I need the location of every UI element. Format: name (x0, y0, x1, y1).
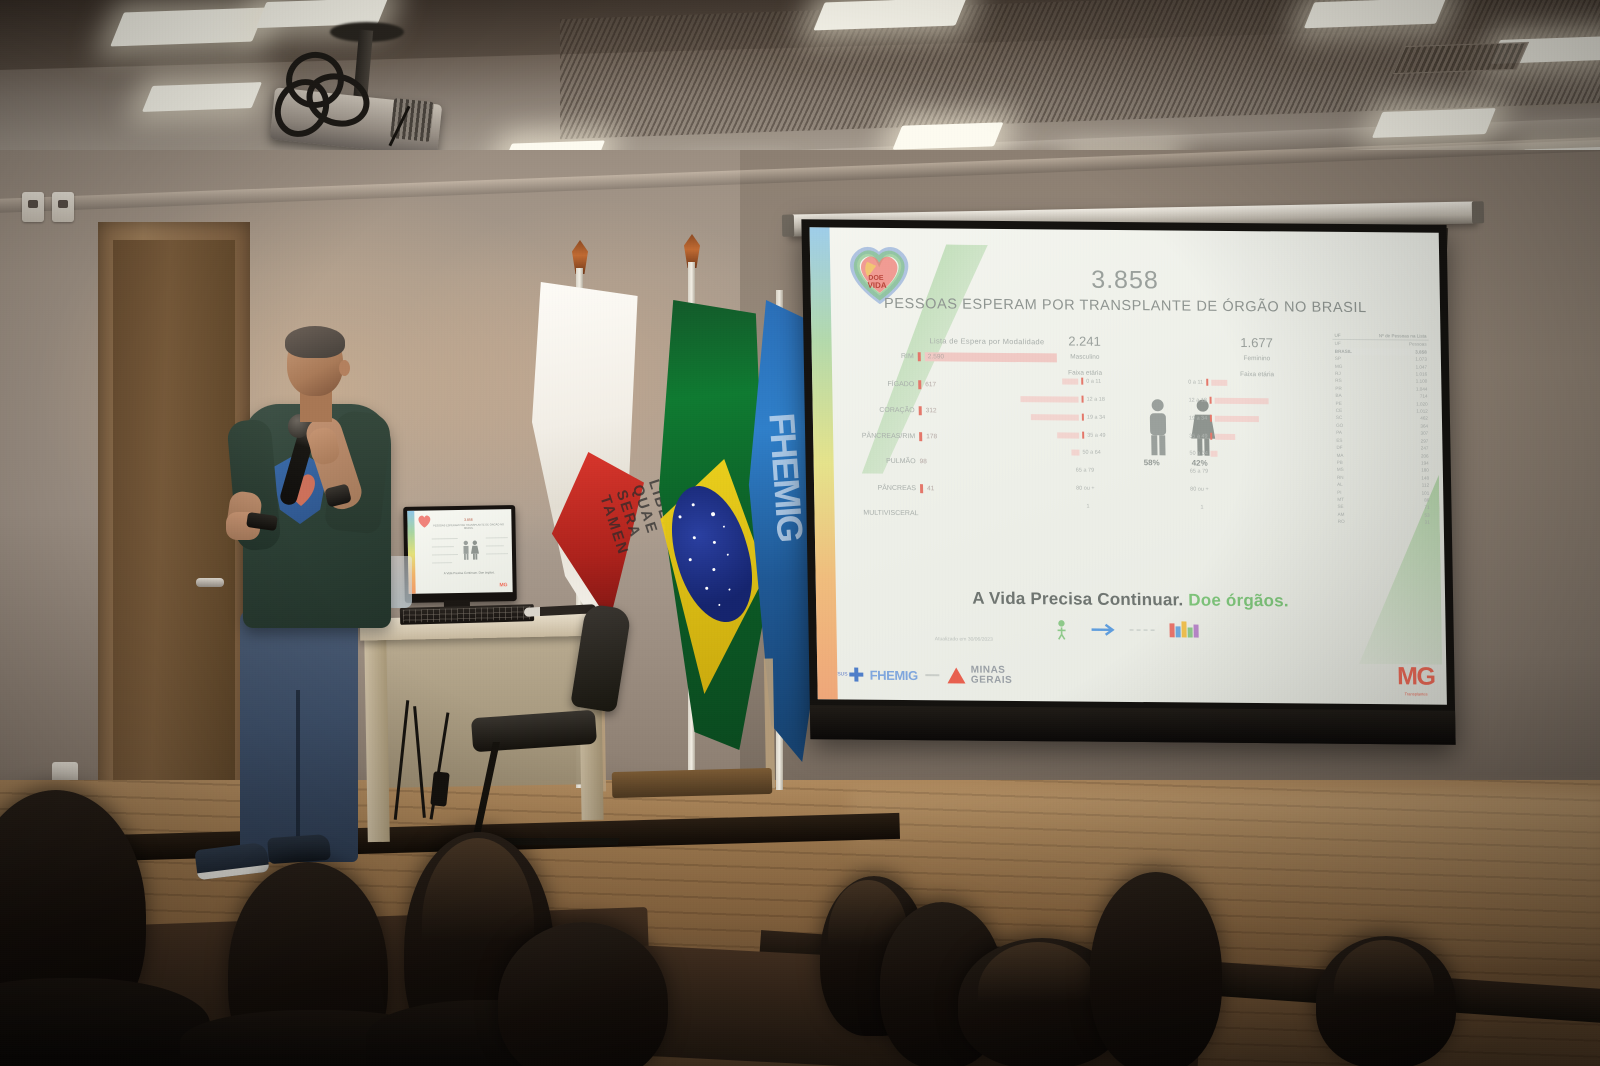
monitor-row-line (432, 554, 458, 556)
age-bar (1057, 432, 1079, 438)
door[interactable] (113, 240, 235, 860)
state-table-uf: SP (1335, 355, 1341, 362)
state-table-uf: PR (1335, 385, 1342, 392)
state-table-count: 31 (1425, 519, 1430, 526)
monitor-screen: 3.858 PESSOAS ESPERAM POR TRANSPLANTE DE… (407, 509, 512, 594)
waitlist-label: PÂNCREAS (854, 485, 916, 493)
sus-logo-text: SUS (837, 671, 847, 677)
ceiling-light (892, 122, 1003, 149)
monitor-slide-title: 3.858 (429, 517, 507, 522)
waitlist-value: 312 (926, 407, 937, 414)
state-table-count: 1.044 (1416, 385, 1428, 393)
state-table-count: 101 (1421, 489, 1429, 496)
age-row-female: 50 a 64 (1189, 451, 1217, 457)
waitlist-label: RIM (852, 353, 914, 361)
age-tick (1210, 397, 1212, 404)
state-table-count: 1.073 (1415, 356, 1427, 364)
slide-headline-number: 3.858 (810, 263, 1440, 297)
waitlist-value: 2.590 (928, 353, 944, 360)
state-table-header-count: Nº de Pessoas na Lista (1379, 332, 1427, 340)
age-row-male: 35 a 49 (1057, 431, 1105, 438)
state-table-count: 1.016 (1416, 371, 1428, 379)
state-table-uf: PB (1337, 459, 1343, 466)
screen-bottom-weight-bar (810, 705, 1456, 745)
age-tick (1210, 415, 1212, 422)
age-row-male: 65 a 79 (1076, 468, 1094, 474)
age-band-label: 19 a 34 (1189, 415, 1207, 421)
auditorium-presentation-scene: LIBERTAS QUAE SERA TAMEN FHEMIG (0, 0, 1600, 1066)
female-percentage: 42% (1192, 459, 1208, 468)
age-row-male: 1 (1086, 504, 1089, 510)
age-bar (1020, 396, 1078, 403)
state-table-header-uf: UF (1334, 332, 1340, 339)
waitlist-row: PÂNCREAS 41 (854, 484, 934, 494)
waitlist-tick (919, 432, 922, 441)
slide-footer-logos: SUS FHEMIG MINAS GERAIS MG Transplantes (837, 657, 1435, 696)
ceiling-air-vent (1393, 42, 1529, 74)
male-percentage: 58% (1144, 458, 1160, 467)
monitor-row-line (432, 538, 458, 540)
state-table-count: 462 (1420, 415, 1428, 422)
mg-transplantes-logo: MG Transplantes (1397, 662, 1435, 696)
age-band-label: 0 a 11 (1188, 379, 1203, 385)
age-row-female: 1 (1200, 505, 1203, 511)
waitlist-tick (919, 406, 922, 415)
monitor-row-line (432, 562, 452, 564)
state-table-uf: SE (1337, 503, 1343, 510)
audience-hair-highlight (1334, 940, 1434, 1036)
door-handle[interactable] (196, 578, 224, 587)
audience-hair-highlight (978, 942, 1098, 1042)
state-table-uf: MT (1337, 496, 1344, 503)
state-table-uf: BRASIL (1335, 348, 1352, 356)
waitlist-value: 617 (925, 381, 936, 388)
state-table-count: 307 (1420, 430, 1428, 437)
state-table-uf: BA (1335, 392, 1341, 399)
age-row-female: 0 a 11 (1188, 379, 1227, 386)
monitor-row-line (486, 537, 508, 539)
state-table-uf: ES (1336, 437, 1342, 444)
age-band-value: 1 (1086, 504, 1089, 510)
desk-leg (364, 632, 390, 842)
waitlist-row: CORAÇÃO 312 (853, 406, 937, 416)
age-row-female: 12 a 18 (1189, 397, 1270, 405)
ceiling-light (110, 8, 266, 47)
state-table-uf: AL (1337, 481, 1343, 488)
slide-headline-text: PESSOAS ESPERAM POR TRANSPLANTE DE ÓRGÃO… (811, 295, 1440, 316)
age-bar (1211, 451, 1218, 457)
waitlist-row: PULMÃO 98 (854, 458, 927, 466)
ceiling-light (813, 0, 966, 30)
ceiling-light (142, 82, 262, 112)
state-table-uf: MG (1335, 362, 1343, 369)
mg-logo-text: MG (1397, 662, 1435, 690)
ceiling-light (1304, 0, 1446, 28)
waitlist-label: PÂNCREAS/RIM (839, 432, 915, 440)
state-table-count: 180 (1421, 467, 1429, 474)
age-band-label: 35 a 49 (1189, 433, 1207, 439)
age-tick (1082, 432, 1084, 439)
age-band-label: 80 ou + (1190, 487, 1209, 493)
waitlist-value: 41 (927, 485, 934, 492)
slogan-main: A Vida Precisa Continuar. (972, 589, 1183, 610)
state-table-uf: MS (1337, 466, 1344, 473)
presenter-shoe (267, 834, 331, 864)
state-table-count: 148 (1421, 474, 1429, 481)
state-table-uf: PA (1336, 429, 1342, 436)
state-table-uf: RO (1338, 518, 1345, 525)
state-table-row: RO31 (1336, 518, 1432, 526)
sus-cross-icon (849, 668, 863, 682)
state-table-count: 112 (1422, 482, 1429, 489)
waitlist-tick (920, 484, 923, 493)
state-table-count: 71 (1424, 504, 1429, 511)
female-subcaption: Faixa etária (1212, 371, 1302, 379)
waitlist-row: MULTIVISCERAL (832, 509, 918, 517)
roller-bracket (1472, 201, 1484, 223)
female-caption: Feminino (1212, 355, 1302, 363)
light-switch[interactable] (52, 192, 74, 222)
logo-divider (926, 674, 940, 676)
age-band-label: 19 a 34 (1087, 414, 1105, 420)
mg-logo-sub: Transplantes (1397, 691, 1434, 696)
office-chair-frame (471, 742, 640, 845)
flag-stand-base (612, 768, 773, 798)
state-table-uf: CE (1336, 407, 1343, 414)
state-table-uf: UF (1335, 340, 1341, 347)
projected-slide: DOE VIDA 3.858 PESSOAS ESPERAM POR TRANS… (810, 227, 1447, 704)
age-band-label: 50 a 64 (1189, 451, 1207, 457)
state-table-count: 88 (1424, 497, 1429, 504)
male-subcaption: Faixa etária (1040, 369, 1130, 377)
state-table-uf: DF (1336, 444, 1342, 451)
waitlist-label: MULTIVISCERAL (832, 509, 918, 517)
slogan-accent: Doe órgãos. (1188, 590, 1289, 610)
age-bar (1031, 414, 1079, 420)
age-band-label: 65 a 79 (1190, 469, 1208, 475)
age-tick (1082, 414, 1084, 421)
age-band-label: 65 a 79 (1076, 468, 1094, 474)
age-row-female: 35 a 49 (1189, 433, 1235, 440)
waitlist-tick (918, 380, 921, 389)
age-bar (1211, 379, 1227, 385)
projection-screen: DOE VIDA 3.858 PESSOAS ESPERAM POR TRANS… (801, 219, 1455, 745)
state-table-uf: PI (1337, 488, 1341, 495)
age-bar (1062, 378, 1078, 384)
state-table-uf: PE (1336, 399, 1342, 406)
state-table-count: 1.047 (1415, 363, 1427, 371)
state-table-count: 714 (1420, 393, 1428, 400)
waitlist-row: FÍGADO 617 (852, 380, 936, 390)
age-tick (1081, 378, 1083, 385)
state-table-uf: SC (1336, 414, 1343, 421)
age-row-male: 80 ou + (1076, 486, 1095, 492)
mg-gov-line2: GERAIS (971, 675, 1013, 686)
male-caption: Masculino (1040, 353, 1130, 361)
age-row-female: 80 ou + (1190, 487, 1209, 493)
state-table-uf: AM (1338, 511, 1345, 518)
monitor-row-line (432, 546, 454, 548)
age-bar (1216, 433, 1236, 439)
audience-member (1090, 872, 1222, 1066)
presenter-monitor: 3.858 PESSOAS ESPERAM POR TRANSPLANTE DE… (403, 505, 517, 603)
state-table-uf: RJ (1335, 370, 1341, 377)
age-row-male: 0 a 11 (1062, 377, 1101, 384)
age-bar (1071, 450, 1079, 456)
state-table-uf: RS (1335, 377, 1342, 384)
flag-fhemig-label: FHEMIG (760, 412, 807, 495)
state-table-count: 1.100 (1416, 378, 1428, 386)
age-row-female: 19 a 34 (1189, 415, 1260, 423)
age-row-male: 12 a 18 (1020, 395, 1105, 403)
age-band-label: 80 ou + (1076, 486, 1095, 492)
waitlist-bar (925, 352, 1057, 362)
state-table-count: 1.020 (1416, 400, 1428, 408)
monitor-mg-logo: MG (499, 582, 507, 588)
waitlist-value: 98 (920, 458, 927, 465)
age-band-value: 1 (1200, 505, 1203, 511)
ceiling-light (1372, 108, 1496, 138)
monitor-slide-subtitle: PESSOAS ESPERAM POR TRANSPLANTE DE ÓRGÃO… (429, 523, 507, 530)
state-table-uf: MA (1336, 451, 1343, 458)
age-tick (1211, 433, 1213, 440)
male-count: 2.241 (1039, 333, 1129, 349)
age-row-male: 19 a 34 (1031, 413, 1106, 421)
age-tick (1081, 396, 1083, 403)
state-table-count: 364 (1420, 422, 1428, 429)
state-table-count: 247 (1421, 445, 1429, 452)
state-table-count: 3.858 (1415, 348, 1427, 356)
state-table-count: Pessoas (1409, 341, 1427, 349)
state-table-count: 297 (1421, 437, 1429, 444)
monitor-pictograms-icon (462, 540, 480, 565)
slide-content: DOE VIDA 3.858 PESSOAS ESPERAM POR TRANS… (810, 227, 1447, 704)
age-row-female: 65 a 79 (1190, 469, 1208, 475)
monitor-row-line (486, 553, 508, 555)
female-count: 1.677 (1211, 335, 1301, 351)
age-bar (1215, 415, 1259, 421)
age-row-male: 50 a 64 (1071, 450, 1100, 456)
age-tick (1206, 379, 1208, 386)
age-band-label: 12 a 18 (1189, 397, 1207, 403)
slide-slogan: A Vida Precisa Continuar. Doe órgãos. (816, 587, 1446, 612)
age-band-label: 50 a 64 (1082, 450, 1100, 456)
state-table-count: 194 (1421, 459, 1429, 466)
monitor-row-line (486, 545, 504, 547)
minas-gerais-logo: MINAS GERAIS (971, 666, 1013, 686)
fhemig-logo: FHEMIG (869, 667, 917, 682)
projector-vent-icon (390, 98, 434, 142)
waitlist-value: 178 (926, 433, 937, 440)
age-band-label: 35 a 49 (1087, 432, 1105, 438)
waitlist-label: PULMÃO (854, 458, 916, 466)
state-table-count: 53 (1424, 511, 1429, 518)
waitlist-tick (918, 352, 921, 361)
waitlist-label: FÍGADO (852, 381, 914, 389)
age-band-label: 0 a 11 (1086, 378, 1101, 384)
state-table-count: 1.012 (1416, 408, 1428, 416)
age-band-label: 12 a 18 (1086, 396, 1104, 402)
state-table-count: 206 (1421, 452, 1429, 459)
roller-bracket (782, 215, 794, 237)
minas-gerais-triangle-icon (948, 667, 966, 683)
presenter-hair (285, 326, 345, 358)
presenter-ear (339, 360, 350, 376)
state-table-uf: RN (1337, 474, 1344, 481)
state-waitlist-table: UFNº de Pessoas na ListaUFPessoasBRASIL3… (1332, 332, 1431, 526)
state-table-uf: GO (1336, 422, 1343, 429)
age-bar (1215, 397, 1269, 403)
waitlist-label: CORAÇÃO (853, 407, 915, 415)
waitlist-title: Lista de Espera por Modalidade (929, 336, 1044, 346)
monitor-slide-slogan: A Vida Precisa Continuar. Doe órgãos. (430, 570, 508, 575)
waitlist-row: RIM 2.590 (852, 352, 1057, 363)
waitlist-row: PÂNCREAS/RIM 178 (839, 431, 937, 441)
light-switch[interactable] (22, 192, 44, 222)
slide-icon-row (816, 616, 1446, 648)
male-pictogram-icon (1145, 398, 1172, 461)
